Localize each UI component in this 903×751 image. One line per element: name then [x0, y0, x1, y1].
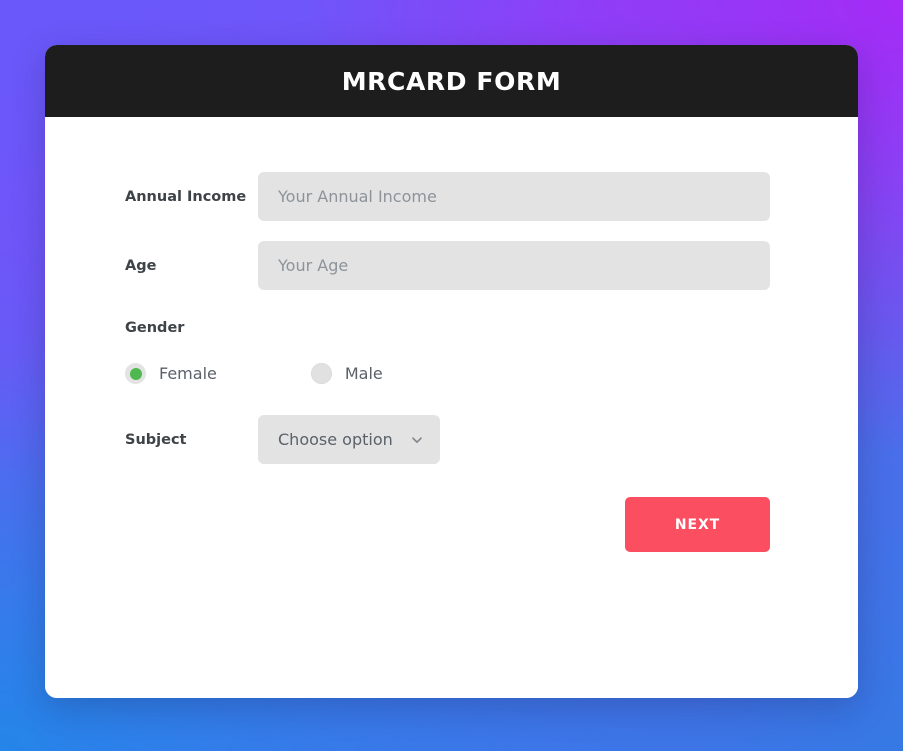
- gender-radio-group: Female Male: [125, 363, 858, 384]
- radio-option-male[interactable]: Male: [311, 363, 383, 384]
- card-header: MRCARD FORM: [45, 45, 858, 117]
- radio-label-female: Female: [159, 364, 217, 383]
- mrcard-form-card: MRCARD FORM Annual Income Age Gender Fem…: [45, 45, 858, 698]
- radio-unselected-icon[interactable]: [311, 363, 332, 384]
- gender-row: Gender Female Male: [45, 320, 858, 384]
- subject-label: Subject: [125, 432, 258, 448]
- form-actions: NEXT: [45, 497, 858, 552]
- annual-income-input[interactable]: [258, 172, 770, 221]
- chevron-down-icon: [410, 433, 424, 447]
- radio-selected-icon[interactable]: [125, 363, 146, 384]
- card-body: Annual Income Age Gender Female Male Sub: [45, 117, 858, 698]
- subject-row: Subject Choose option: [45, 415, 858, 464]
- next-button[interactable]: NEXT: [625, 497, 770, 552]
- subject-select-value: Choose option: [278, 430, 410, 449]
- gender-label: Gender: [125, 320, 858, 336]
- age-row: Age: [45, 241, 858, 290]
- annual-income-row: Annual Income: [45, 172, 858, 221]
- age-label: Age: [125, 258, 258, 274]
- age-input[interactable]: [258, 241, 770, 290]
- subject-select[interactable]: Choose option: [258, 415, 440, 464]
- page-title: MRCARD FORM: [342, 67, 562, 96]
- radio-label-male: Male: [345, 364, 383, 383]
- annual-income-label: Annual Income: [125, 189, 258, 205]
- radio-option-female[interactable]: Female: [125, 363, 217, 384]
